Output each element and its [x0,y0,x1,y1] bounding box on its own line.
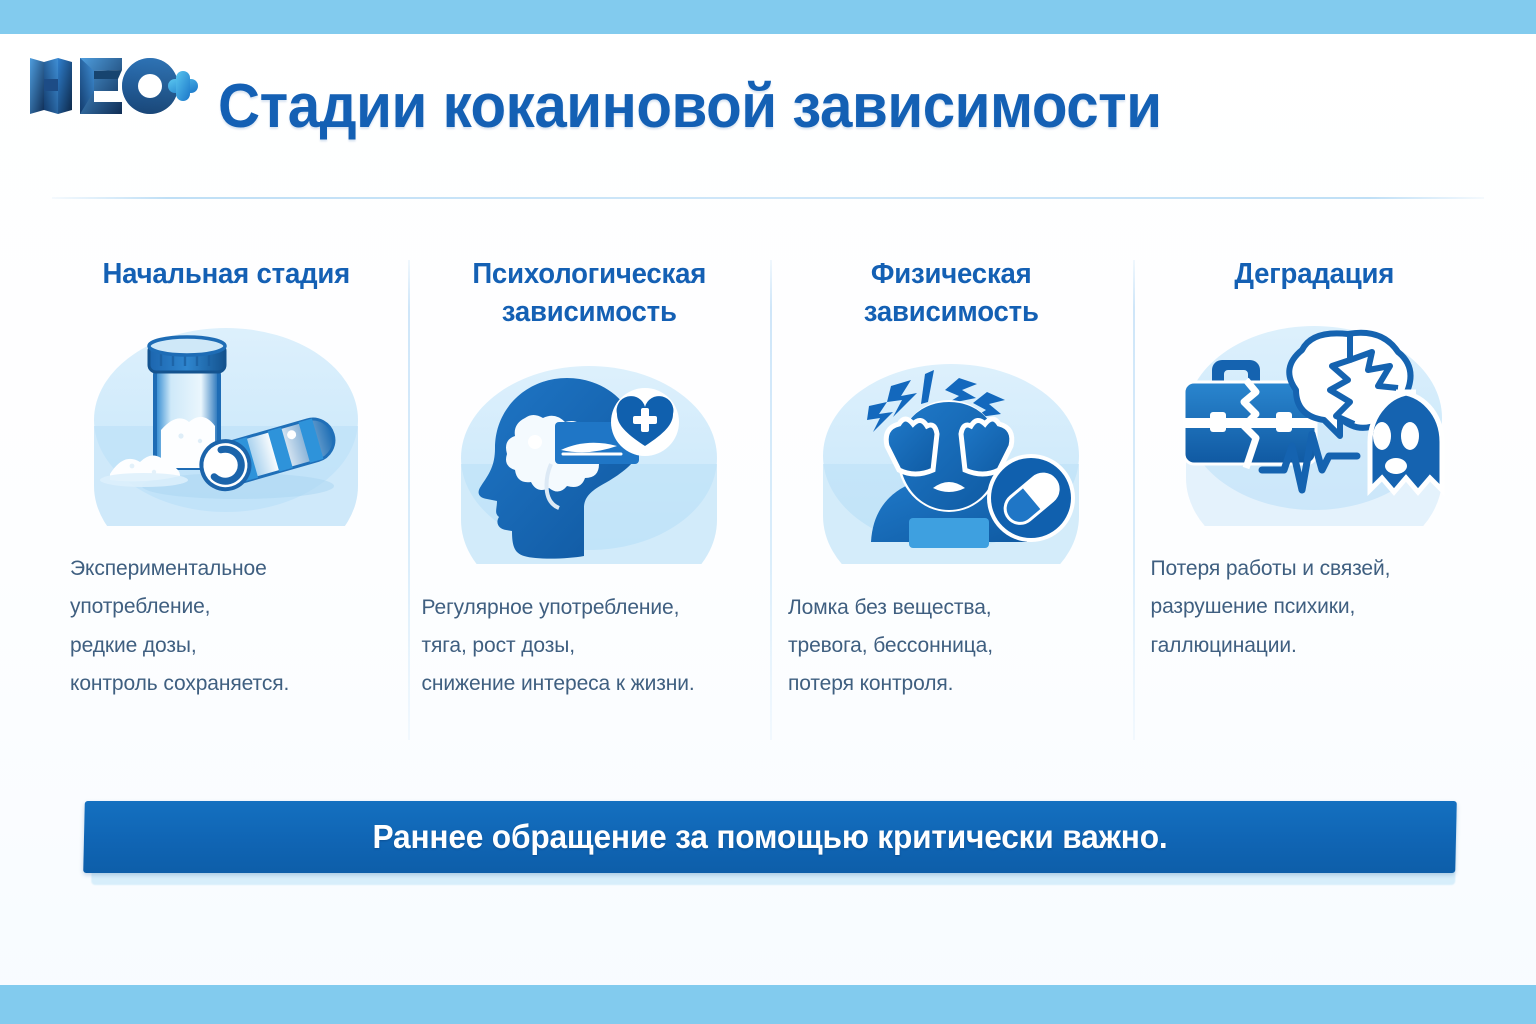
logo-letter-n [30,58,72,114]
infographic-poster: Стадии кокаиновой зависимости Начальная … [0,0,1536,1024]
banner-text: Раннее обращение за помощью критически в… [111,801,1428,873]
call-to-action-banner: Раннее обращение за помощью критически в… [84,801,1456,875]
stage-illustration-physical [784,346,1119,571]
stage-description-degradation: Потеря работы и связей, разрушение психи… [1151,550,1482,665]
desc-line-2: разрушение психики, [1151,588,1482,626]
brand-logo [22,48,202,122]
desc-line-2: тяга, рост дозы, [422,627,757,665]
page-title: Стадии кокаиновой зависимости [218,76,1243,138]
desc-line-3: редкие дозы, [70,627,394,665]
stage-title-line-1: Начальная [102,258,249,290]
stage-column-degradation: Деградация [1133,255,1496,755]
ghost [1370,392,1442,492]
stage-title-line-1: Психологическая [472,258,706,290]
stage-illustration-psychological [422,346,757,571]
header-divider [52,197,1484,199]
stage-title-psychological: Психологическая зависимость [430,255,748,332]
stage-column-psychological: Психологическая зависимость [408,255,771,755]
stage-description-initial: Экспериментальное употребление, редкие д… [70,550,394,703]
desc-line-3: снижение интереса к жизни. [422,665,757,703]
stage-title-line-2: стадия [257,258,351,290]
stage-title-physical: Физическая зависимость [792,255,1110,332]
bottom-accent-band [0,985,1536,1024]
stage-column-physical: Физическая зависимость [770,255,1133,755]
stage-title-line-2: зависимость [864,296,1039,328]
desc-line-1: Регулярное употребление, [422,589,757,627]
stage-title-degradation: Деградация [1155,255,1473,293]
stage-column-initial: Начальная стадия [45,255,408,755]
top-accent-band [0,0,1536,34]
stage-description-physical: Ломка без вещества, тревога, бессонница,… [788,589,1119,704]
desc-line-1: Потеря работы и связей, [1151,550,1482,588]
desc-line-1: Экспериментальное [70,550,394,588]
stage-title-initial: Начальная стадия [67,255,385,293]
stages-columns: Начальная стадия [45,255,1495,755]
stage-title-line-2: зависимость [501,296,676,328]
stage-illustration-initial [59,307,394,532]
stage-title-line-1: Деградация [1234,258,1394,290]
desc-line-3: потеря контроля. [788,665,1119,703]
stage-title-line-1: Физическая [871,258,1032,290]
stage-description-psychological: Регулярное употребление, тяга, рост дозы… [422,589,757,704]
desc-line-2: тревога, бессонница, [788,627,1119,665]
desc-line-3: галлюцинации. [1151,627,1482,665]
stage-illustration-degradation [1147,307,1482,532]
logo-letter-e [80,58,122,114]
desc-line-2: употребление, [70,588,394,626]
desc-line-1: Ломка без вещества, [788,589,1119,627]
desc-line-4: контроль сохраняется. [70,665,394,703]
